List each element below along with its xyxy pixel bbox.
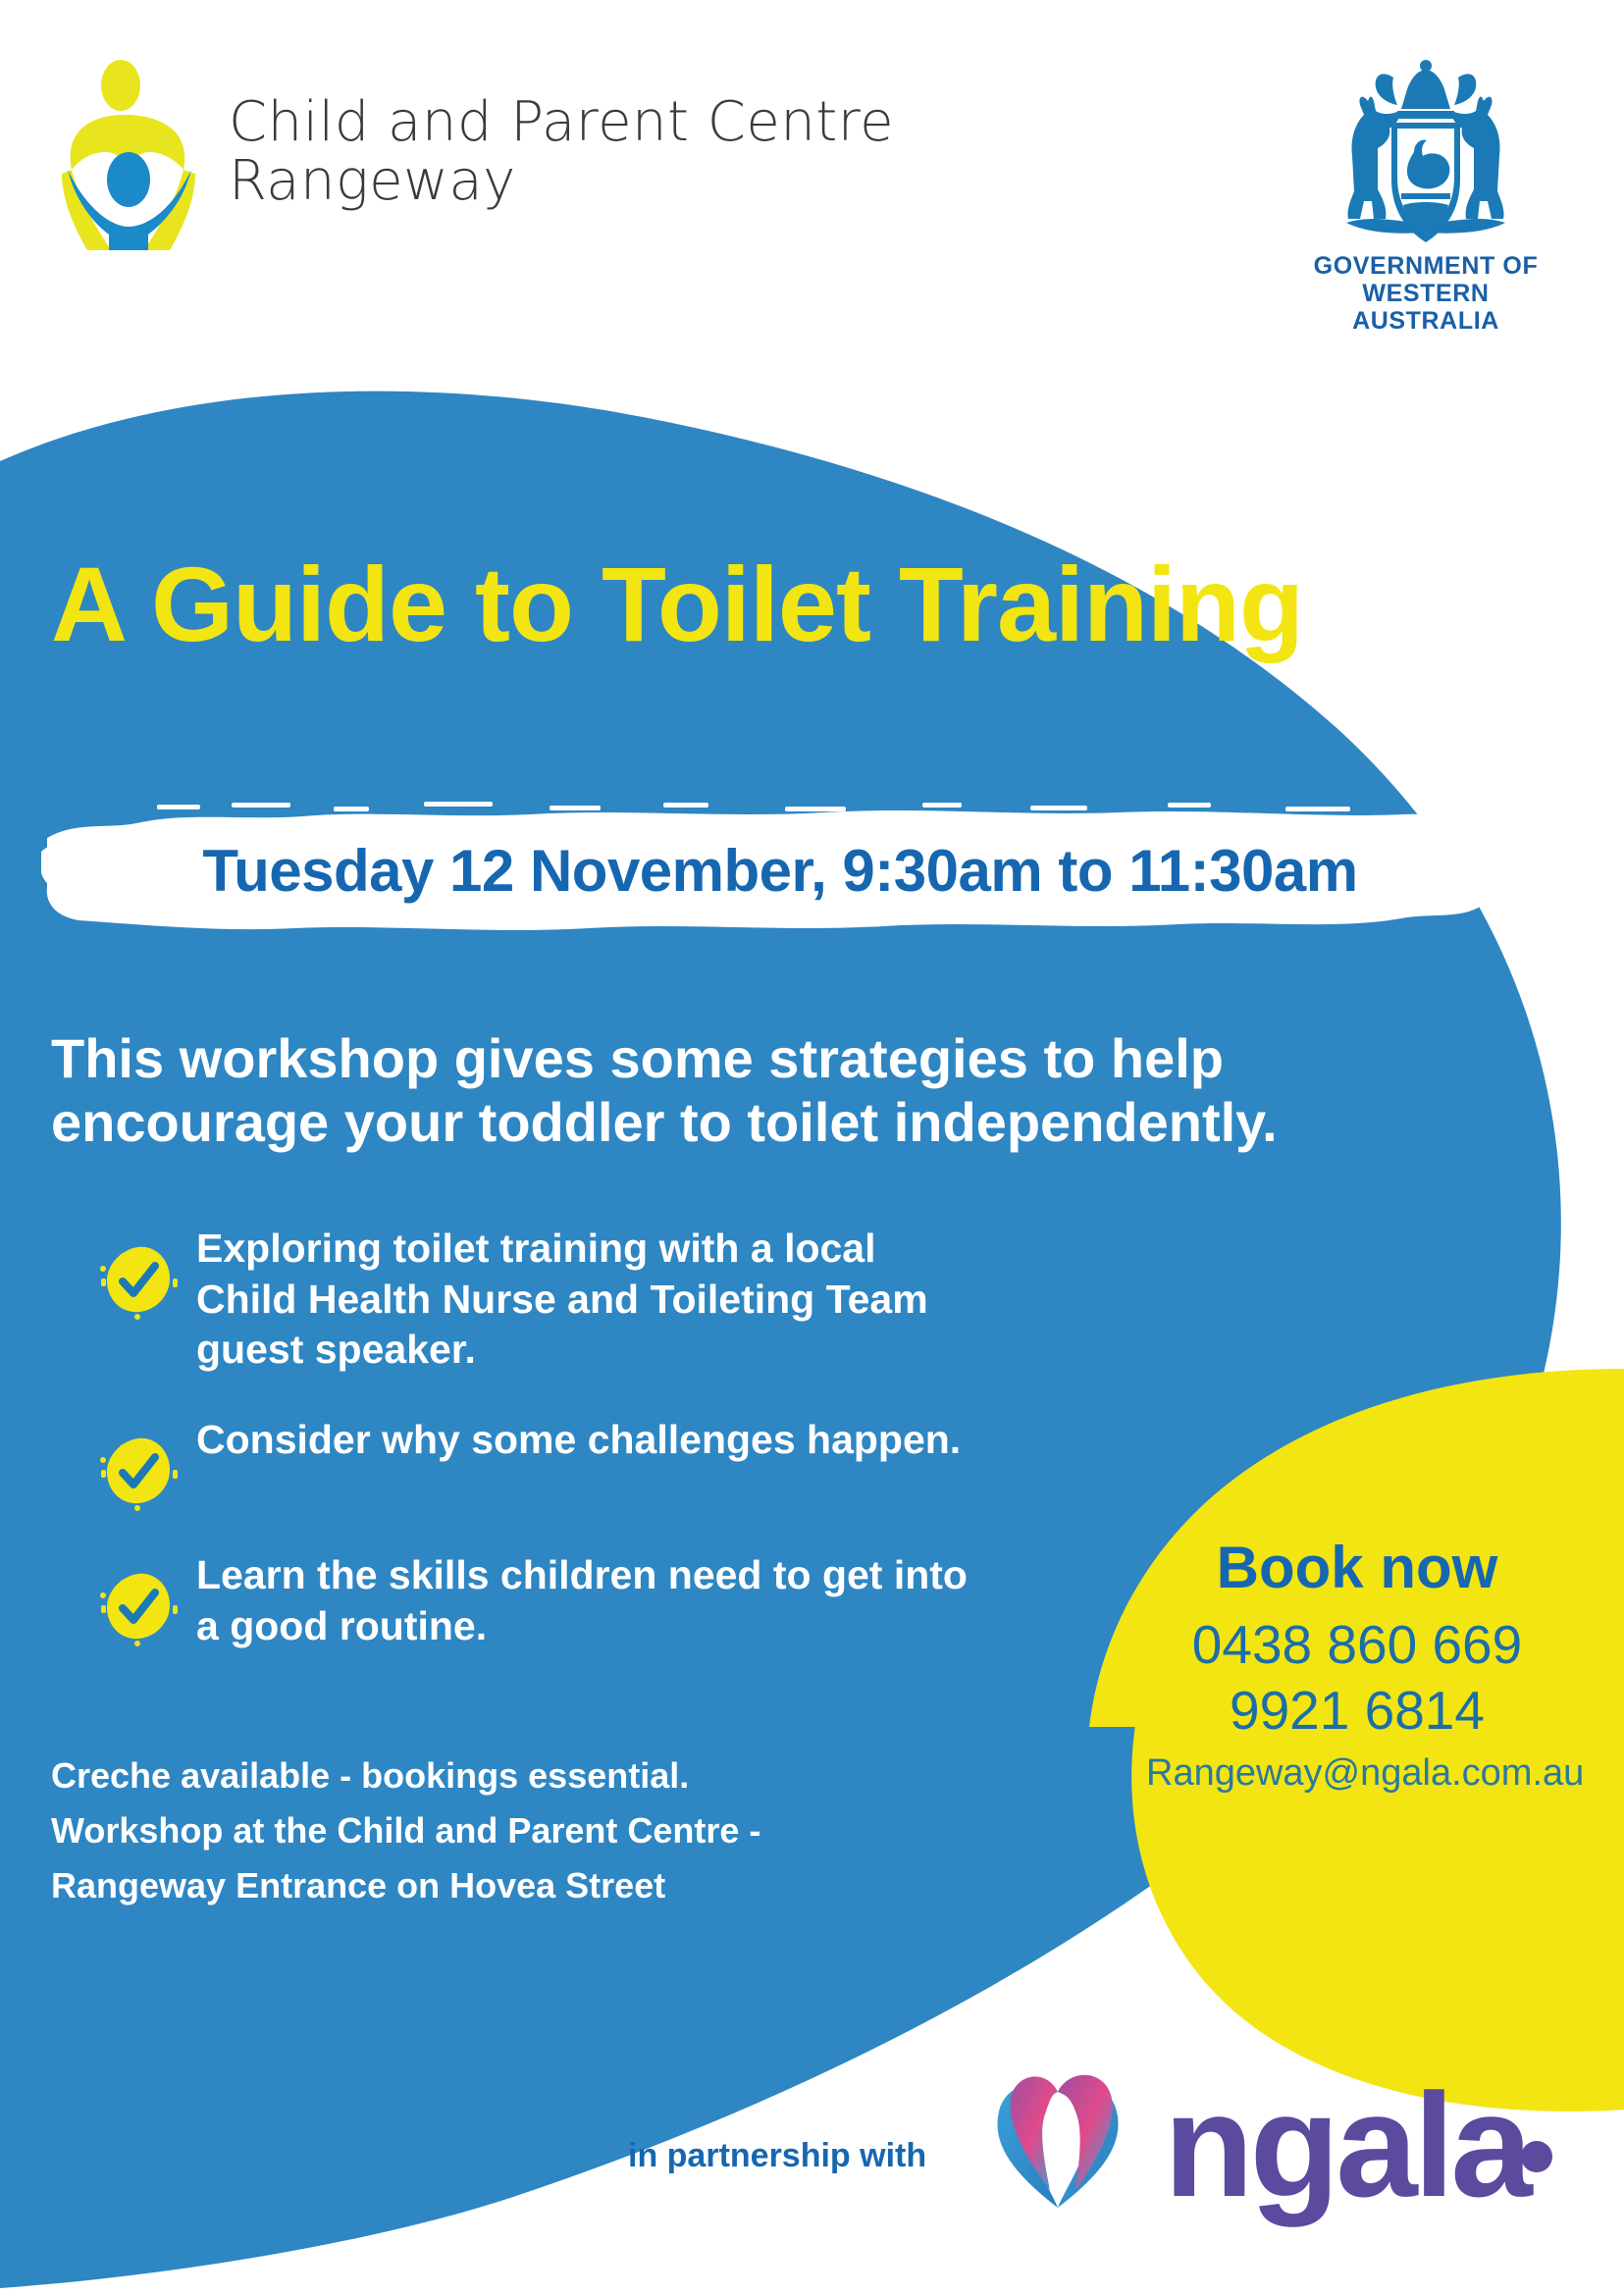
parent-and-child-figure-icon	[54, 54, 211, 250]
intro-paragraph: This workshop gives some strategies to h…	[51, 1027, 1464, 1155]
list-item: Learn the skills children need to get in…	[98, 1548, 981, 1651]
list-item-label: Consider why some challenges happen.	[196, 1413, 961, 1466]
wa-government-label-line-1: GOVERNMENT OF	[1293, 252, 1558, 280]
book-now-heading: Book now	[1146, 1536, 1568, 1600]
poster-title: A Guide to Toilet Training	[51, 551, 1582, 657]
cpc-logo-line-2: Rangeway	[229, 152, 894, 211]
date-banner: Tuesday 12 November, 9:30am to 11:30am	[39, 797, 1492, 944]
ngala-dot-icon	[1521, 2141, 1552, 2172]
check-badge-icon	[98, 1566, 179, 1646]
bullet-list: Exploring toilet training with a local C…	[98, 1222, 981, 1689]
notes-line-2: Workshop at the Child and Parent Centre …	[51, 1803, 954, 1858]
cpc-logo-line-1: Child and Parent Centre	[229, 93, 894, 152]
list-item-label: Exploring toilet training with a local C…	[196, 1222, 981, 1376]
ngala-hearts-icon	[997, 2075, 1118, 2208]
notes-block: Creche available - bookings essential. W…	[51, 1748, 954, 1912]
list-item: Consider why some challenges happen.	[98, 1413, 981, 1511]
partnership-label: in partnership with	[628, 2137, 926, 2175]
cpc-logo-wordmark: Child and Parent Centre Rangeway	[229, 93, 894, 212]
booking-phone-mobile[interactable]: 0438 860 669	[1146, 1612, 1568, 1678]
check-badge-icon	[98, 1239, 179, 1320]
wa-government-logo: GOVERNMENT OF WESTERN AUSTRALIA	[1293, 54, 1558, 309]
notes-line-3: Rangeway Entrance on Hovea Street	[51, 1858, 954, 1913]
list-item: Exploring toilet training with a local C…	[98, 1222, 981, 1376]
booking-email[interactable]: Rangeway@ngala.com.au	[1146, 1749, 1568, 1798]
check-badge-icon	[98, 1431, 179, 1511]
wa-government-label: GOVERNMENT OF WESTERN AUSTRALIA	[1293, 252, 1558, 335]
booking-phone-landline[interactable]: 9921 6814	[1146, 1678, 1568, 1744]
booking-block: Book now 0438 860 669 9921 6814 Rangeway…	[1146, 1536, 1568, 1799]
notes-line-1: Creche available - bookings essential.	[51, 1748, 954, 1803]
wa-government-label-line-2: WESTERN AUSTRALIA	[1293, 280, 1558, 335]
list-item-label: Learn the skills children need to get in…	[196, 1548, 981, 1651]
wa-government-crest-icon	[1321, 54, 1532, 250]
child-and-parent-centre-logo: Child and Parent Centre Rangeway	[54, 54, 894, 250]
poster-header: Child and Parent Centre Rangeway	[0, 0, 1624, 334]
ngala-logo: ngala	[981, 2051, 1560, 2237]
date-banner-text: Tuesday 12 November, 9:30am to 11:30am	[39, 797, 1492, 944]
poster-canvas: Child and Parent Centre Rangeway	[0, 0, 1624, 2296]
ngala-wordmark: ngala	[1164, 2062, 1534, 2227]
